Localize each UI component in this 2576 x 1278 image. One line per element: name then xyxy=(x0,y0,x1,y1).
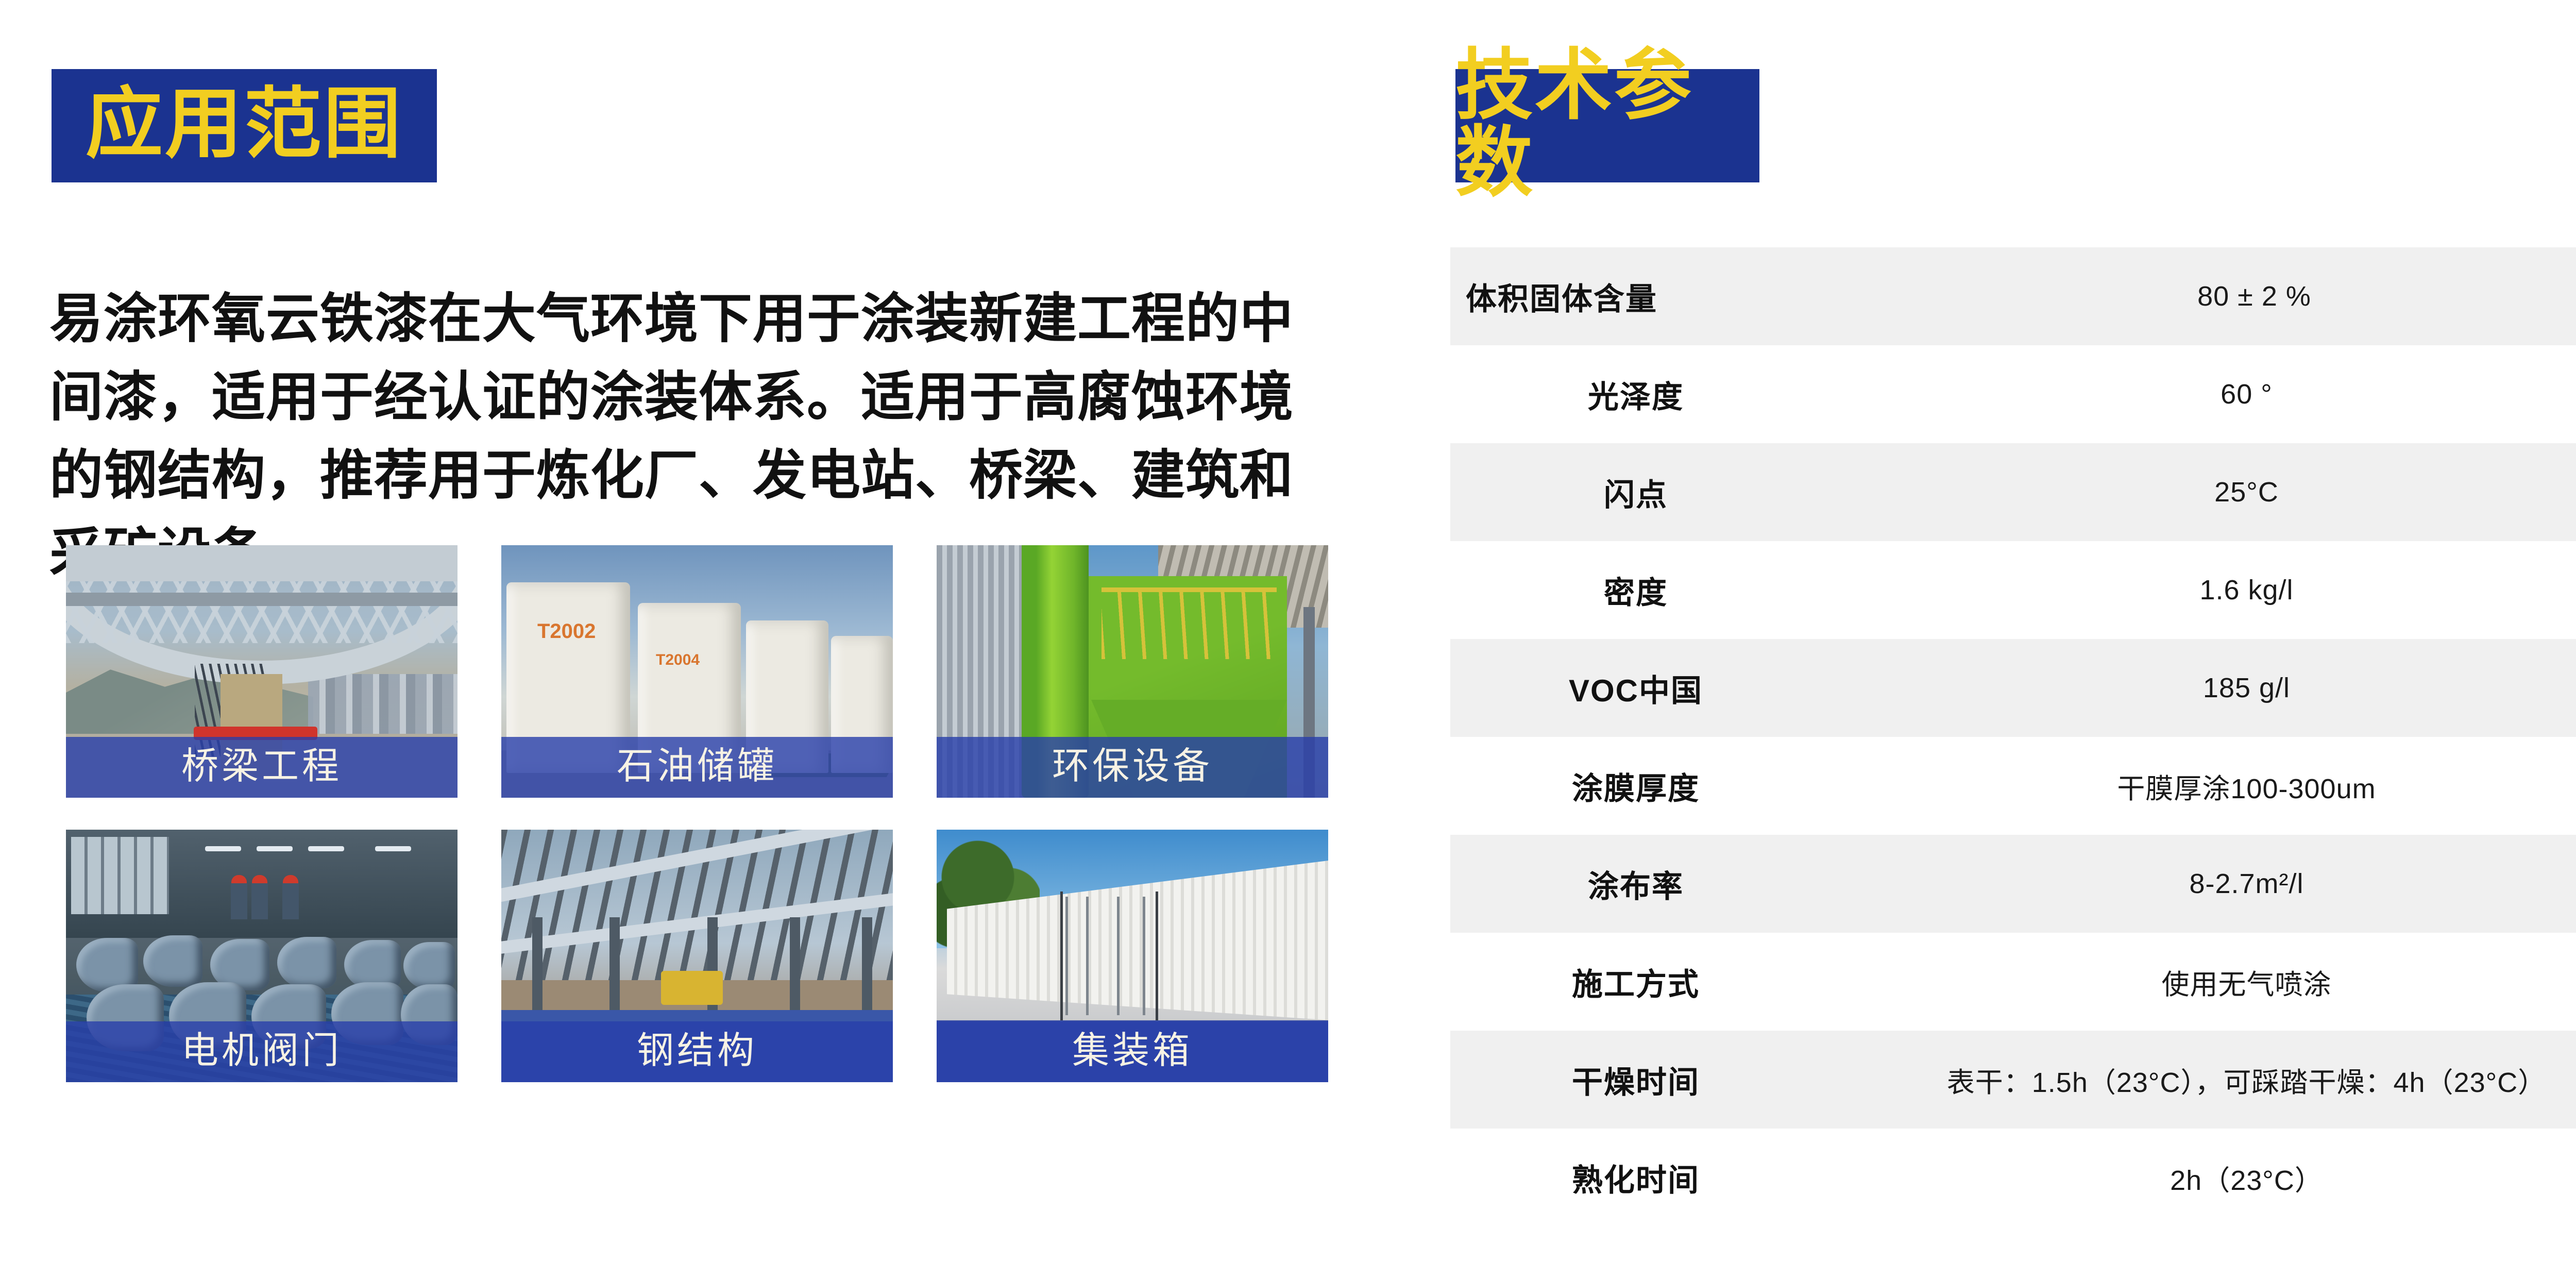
marketing-spec-sheet: 应用范围 易涂环氧云铁漆在大气环境下用于涂装新建工程的中间漆，适用于经认证的涂装… xyxy=(0,0,2576,1278)
spec-value: 1.6 kg/l xyxy=(1821,574,2576,606)
spec-value: 表干：1.5h（23°C），可踩踏干燥：4h（23°C） xyxy=(1821,1060,2576,1100)
spec-label: 体积固体含量 xyxy=(1450,274,1837,319)
spec-label: 涂膜厚度 xyxy=(1450,764,1821,809)
spec-value: 80 ± 2 % xyxy=(1837,280,2576,312)
technical-parameters-title-badge: 技术参数 xyxy=(1455,69,1759,182)
spec-label: 涂布率 xyxy=(1450,862,1821,906)
table-row: 闪点 25°C xyxy=(1450,443,2576,541)
application-tile-oil-tanks[interactable]: T2002 T2004 石油储罐 xyxy=(501,545,893,798)
spec-value: 2h（23°C） xyxy=(1821,1157,2576,1198)
spec-value: 使用无气喷涂 xyxy=(1821,962,2576,1002)
table-row: 干燥时间 表干：1.5h（23°C），可踩踏干燥：4h（23°C） xyxy=(1450,1031,2576,1129)
table-row: 施工方式 使用无气喷涂 xyxy=(1450,933,2576,1031)
spec-label: 熟化时间 xyxy=(1450,1155,1821,1200)
spec-label: 闪点 xyxy=(1450,470,1821,515)
application-tile-steel-structure[interactable]: 钢结构 xyxy=(501,830,893,1082)
table-row: VOC中国 185 g/l xyxy=(1450,639,2576,737)
application-scope-title-badge: 应用范围 xyxy=(52,69,437,182)
table-row: 体积固体含量 80 ± 2 % xyxy=(1450,247,2576,345)
application-tile-grid: 桥梁工程 T2002 T2004 石油储罐 xyxy=(45,537,1333,1074)
spec-label: 施工方式 xyxy=(1450,960,1821,1004)
application-tile-env-equipment[interactable]: 环保设备 xyxy=(937,545,1328,798)
tile-caption: 电机阀门 xyxy=(66,1021,457,1082)
spec-value: 25°C xyxy=(1821,476,2576,508)
tile-caption: 集装箱 xyxy=(937,1021,1328,1082)
tile-caption: 石油储罐 xyxy=(501,737,893,798)
spec-value: 185 g/l xyxy=(1821,672,2576,704)
spec-label: 光泽度 xyxy=(1450,372,1821,417)
tile-caption: 环保设备 xyxy=(937,737,1328,798)
spec-label: 干燥时间 xyxy=(1450,1057,1821,1102)
spec-value: 60 ° xyxy=(1821,378,2576,410)
tank-label-1: T2002 xyxy=(537,620,596,643)
table-row: 涂布率 8-2.7m²/l xyxy=(1450,835,2576,933)
spec-label: 密度 xyxy=(1450,568,1821,613)
application-tile-container[interactable]: 集装箱 xyxy=(937,830,1328,1082)
technical-parameters-table: 体积固体含量 80 ± 2 % 光泽度 60 ° 闪点 25°C 密度 1.6 … xyxy=(1450,247,2576,1226)
spec-value: 干膜厚涂100-300um xyxy=(1821,766,2576,806)
table-row: 熟化时间 2h（23°C） xyxy=(1450,1129,2576,1226)
tile-caption: 桥梁工程 xyxy=(66,737,457,798)
spec-label: VOC中国 xyxy=(1450,666,1821,711)
tank-label-2: T2004 xyxy=(656,651,700,669)
technical-parameters-panel: 技术参数 体积固体含量 80 ± 2 % 光泽度 60 ° 闪点 25°C 密度… xyxy=(1370,0,2576,1278)
table-row: 涂膜厚度 干膜厚涂100-300um xyxy=(1450,737,2576,835)
application-scope-panel: 应用范围 易涂环氧云铁漆在大气环境下用于涂装新建工程的中间漆，适用于经认证的涂装… xyxy=(0,0,1370,1278)
table-row: 光泽度 60 ° xyxy=(1450,345,2576,443)
spec-value: 8-2.7m²/l xyxy=(1821,868,2576,900)
table-row: 密度 1.6 kg/l xyxy=(1450,541,2576,639)
application-tile-bridge[interactable]: 桥梁工程 xyxy=(66,545,457,798)
tile-caption: 钢结构 xyxy=(501,1021,893,1082)
application-tile-motor-valves[interactable]: 电机阀门 xyxy=(66,830,457,1082)
